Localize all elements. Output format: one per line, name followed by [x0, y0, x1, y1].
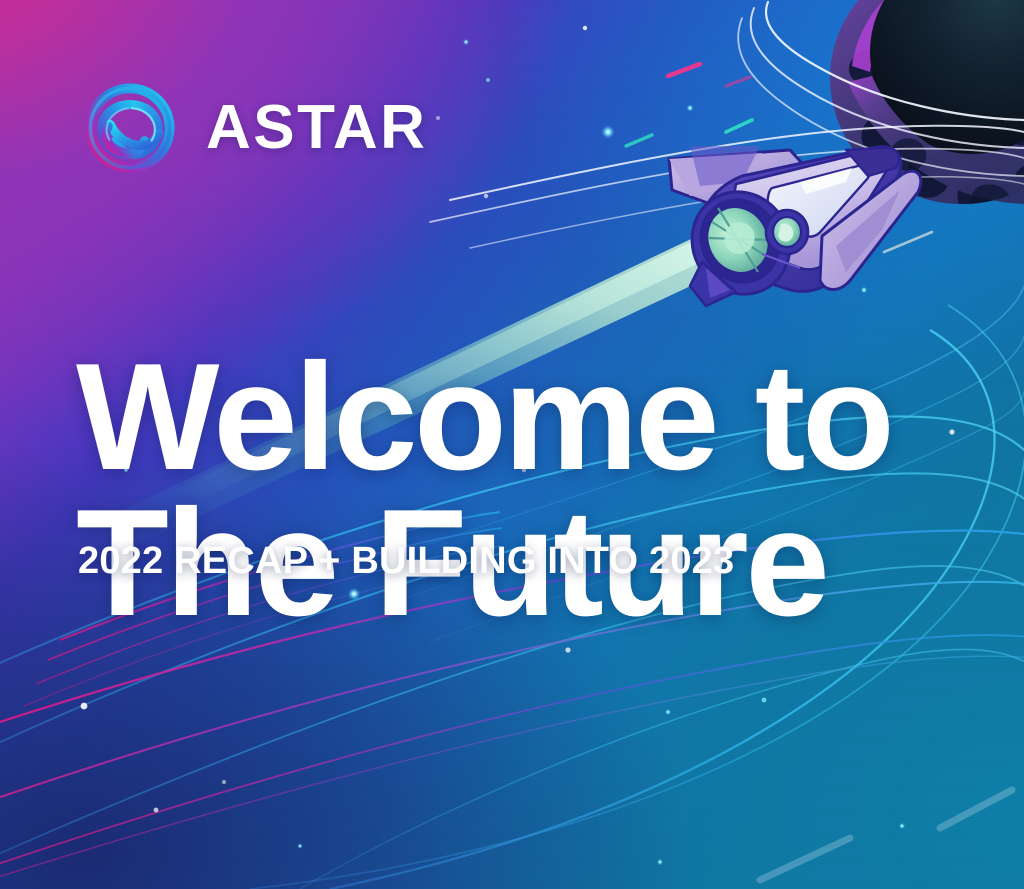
- page-title: Welcome to The Future: [76, 345, 976, 637]
- poster-canvas: ASTAR Welcome to The Future 2022 RECAP +…: [0, 0, 1024, 889]
- astar-trefoil-knot-icon: [76, 74, 184, 182]
- headline-line-1: Welcome to: [76, 332, 891, 502]
- page-subtitle: 2022 RECAP + BUILDING INTO 2023: [78, 540, 734, 583]
- brand-wordmark: ASTAR: [206, 97, 427, 159]
- brand-lockup: ASTAR: [76, 74, 427, 182]
